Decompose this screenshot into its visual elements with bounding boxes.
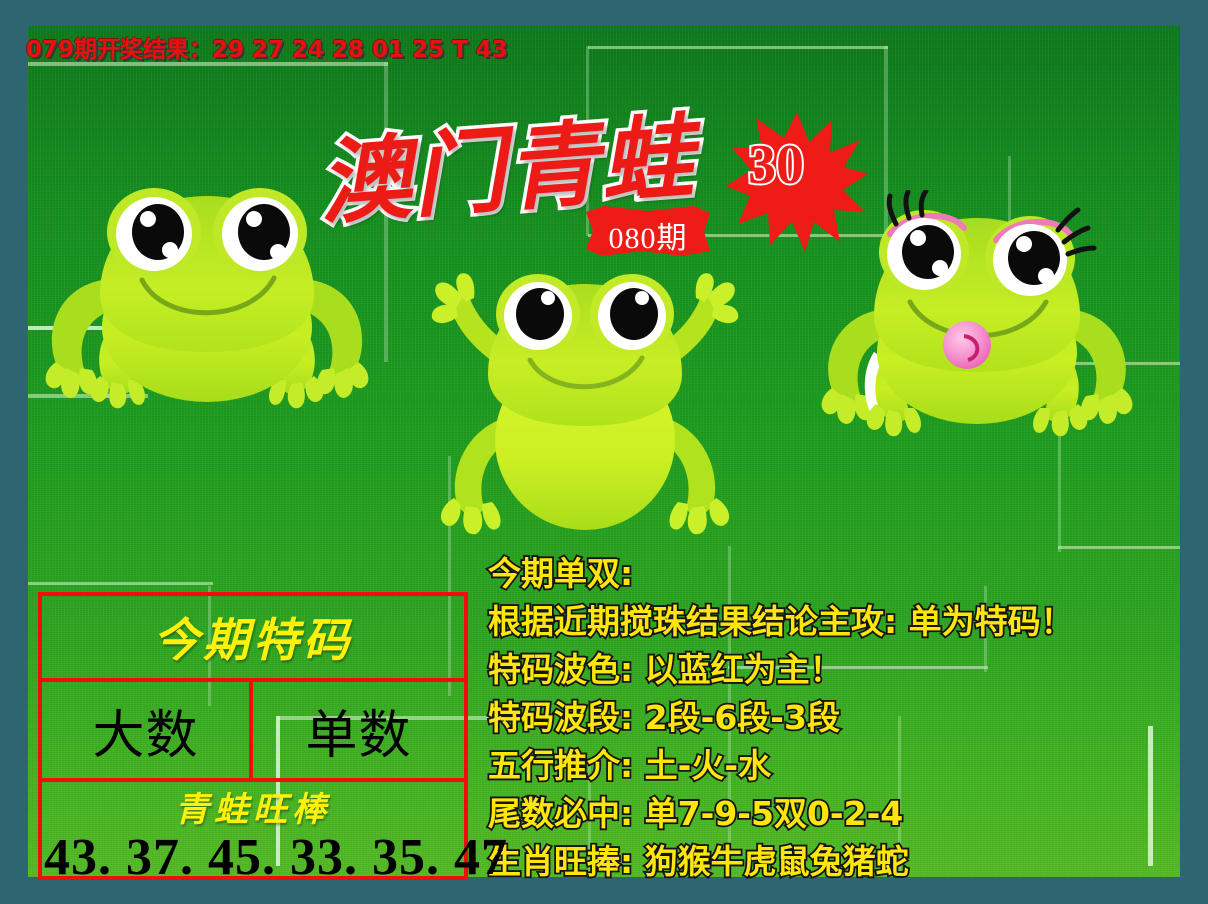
grid-line bbox=[1148, 726, 1153, 866]
issue-number: 080期 bbox=[586, 213, 710, 257]
info-line-five-elements: 五行推介: 土-火-水 bbox=[488, 742, 1074, 790]
info-line-conclusion: 根据近期搅珠结果结论主攻: 单为特码！ bbox=[488, 598, 1074, 646]
grid-line bbox=[28, 582, 213, 585]
grid-line bbox=[588, 46, 888, 49]
draw-result-line: 079期开奖结果：29 27 24 28 01 25 T 43 bbox=[26, 30, 508, 64]
table-row: 今期特码 bbox=[42, 596, 464, 682]
starburst-number: 30 bbox=[748, 133, 804, 197]
table-row: 大数 单数 bbox=[42, 682, 464, 782]
info-line-wave-color: 特码波色: 以蓝红为主！ bbox=[488, 646, 1074, 694]
cell-value-size: 大数 bbox=[92, 693, 198, 768]
table-subheading-wrap: 青蛙旺棒 bbox=[38, 782, 468, 831]
table-heading-cell: 今期特码 bbox=[42, 596, 464, 678]
table-cell-parity: 单数 bbox=[253, 682, 464, 778]
info-line-zodiac: 生肖旺捧: 狗猴牛虎鼠兔猪蛇 bbox=[488, 838, 1074, 886]
lottery-poster: 079期开奖结果：29 27 24 28 01 25 T 43 30 澳门青蛙 … bbox=[0, 0, 1208, 904]
info-line-parity: 今期单双: bbox=[488, 550, 1074, 598]
info-line-wave-range: 特码波段: 2段-6段-3段 bbox=[488, 694, 1074, 742]
table-subheading: 青蛙旺棒 bbox=[175, 790, 331, 830]
cell-value-parity: 单数 bbox=[305, 693, 411, 768]
info-line-tail-numbers: 尾数必中: 单7-9-5双0-2-4 bbox=[488, 790, 1074, 838]
table-cell-size: 大数 bbox=[42, 682, 253, 778]
table-heading: 今期特码 bbox=[153, 604, 353, 670]
recommended-numbers: 43. 37. 45. 33. 35. 47 bbox=[44, 828, 508, 887]
prediction-info-block: 今期单双: 根据近期搅珠结果结论主攻: 单为特码！ 特码波色: 以蓝红为主！ 特… bbox=[488, 550, 1074, 886]
grid-line bbox=[1058, 546, 1180, 549]
frog-middle bbox=[420, 250, 750, 550]
